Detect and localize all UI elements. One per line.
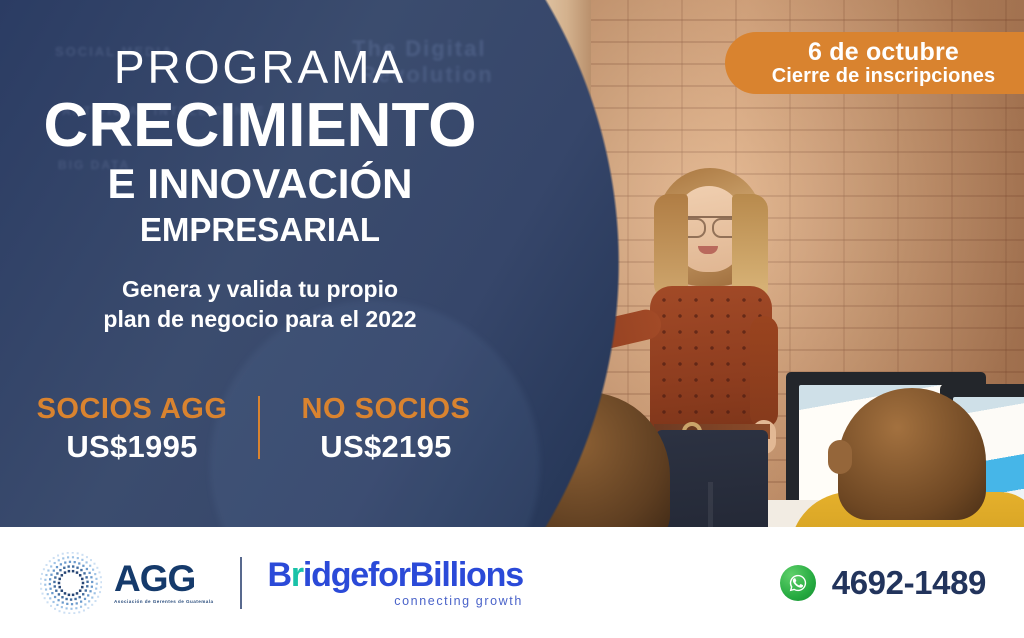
headline-innovacion: E INNOVACIÓN <box>0 163 520 205</box>
pricing-block: SOCIOS AGG US$1995 NO SOCIOS US$2195 <box>22 392 496 465</box>
pricing-members: SOCIOS AGG US$1995 <box>22 392 258 465</box>
bridgeforbillions-logo: BridgeforBillions connecting growth <box>268 558 523 608</box>
headline-block: PROGRAMA CRECIMIENTO E INNOVACIÓN EMPRES… <box>0 0 520 335</box>
agg-letters: AGG <box>114 561 214 596</box>
nonmembers-price: US$2195 <box>276 429 496 465</box>
subtitle-line-2: plan de negocio para el 2022 <box>0 304 520 334</box>
headline-crecimiento: CRECIMIENTO <box>0 95 520 157</box>
headline-empresarial: EMPRESARIAL <box>0 213 520 246</box>
footer-logos: AGG Asociación de Gerentes de Guatemala … <box>0 552 523 614</box>
agg-circle-dots-icon <box>40 552 102 614</box>
bfb-tagline: connecting growth <box>268 594 523 608</box>
logo-divider <box>240 557 242 609</box>
deadline-caption: Cierre de inscripciones <box>772 65 996 87</box>
audience-member-right-ear <box>828 440 852 474</box>
footer-bar: AGG Asociación de Gerentes de Guatemala … <box>0 527 1024 638</box>
deadline-date: 6 de octubre <box>808 39 959 66</box>
headline-programa: PROGRAMA <box>0 44 520 91</box>
bfb-wordmark: BridgeforBillions <box>268 558 523 592</box>
contact-block[interactable]: 4692-1489 <box>780 564 1024 602</box>
presenter-right-arm <box>750 316 778 428</box>
pricing-nonmembers: NO SOCIOS US$2195 <box>260 392 496 465</box>
hero-section: SOCIAL MEDIA ARTIFICIAL INTELLIGENCE BIG… <box>0 0 1024 527</box>
promotional-banner: SOCIAL MEDIA ARTIFICIAL INTELLIGENCE BIG… <box>0 0 1024 638</box>
agg-wordmark: AGG Asociación de Gerentes de Guatemala <box>114 561 214 604</box>
whatsapp-number[interactable]: 4692-1489 <box>832 564 986 602</box>
members-price: US$1995 <box>22 429 242 465</box>
agg-tagline: Asociación de Gerentes de Guatemala <box>114 599 214 604</box>
subtitle: Genera y valida tu propio plan de negoci… <box>0 274 520 335</box>
presenter-jeans <box>656 430 768 527</box>
nonmembers-label: NO SOCIOS <box>276 392 496 426</box>
bfb-name-part2: idgeforBillions <box>303 556 523 594</box>
subtitle-line-1: Genera y valida tu propio <box>0 274 520 304</box>
members-label: SOCIOS AGG <box>22 392 242 426</box>
deadline-badge: 6 de octubre Cierre de inscripciones <box>725 32 1024 94</box>
bfb-name-accent-r: r <box>291 556 303 594</box>
bfb-name-part1: B <box>268 556 291 594</box>
whatsapp-icon[interactable] <box>780 565 816 601</box>
